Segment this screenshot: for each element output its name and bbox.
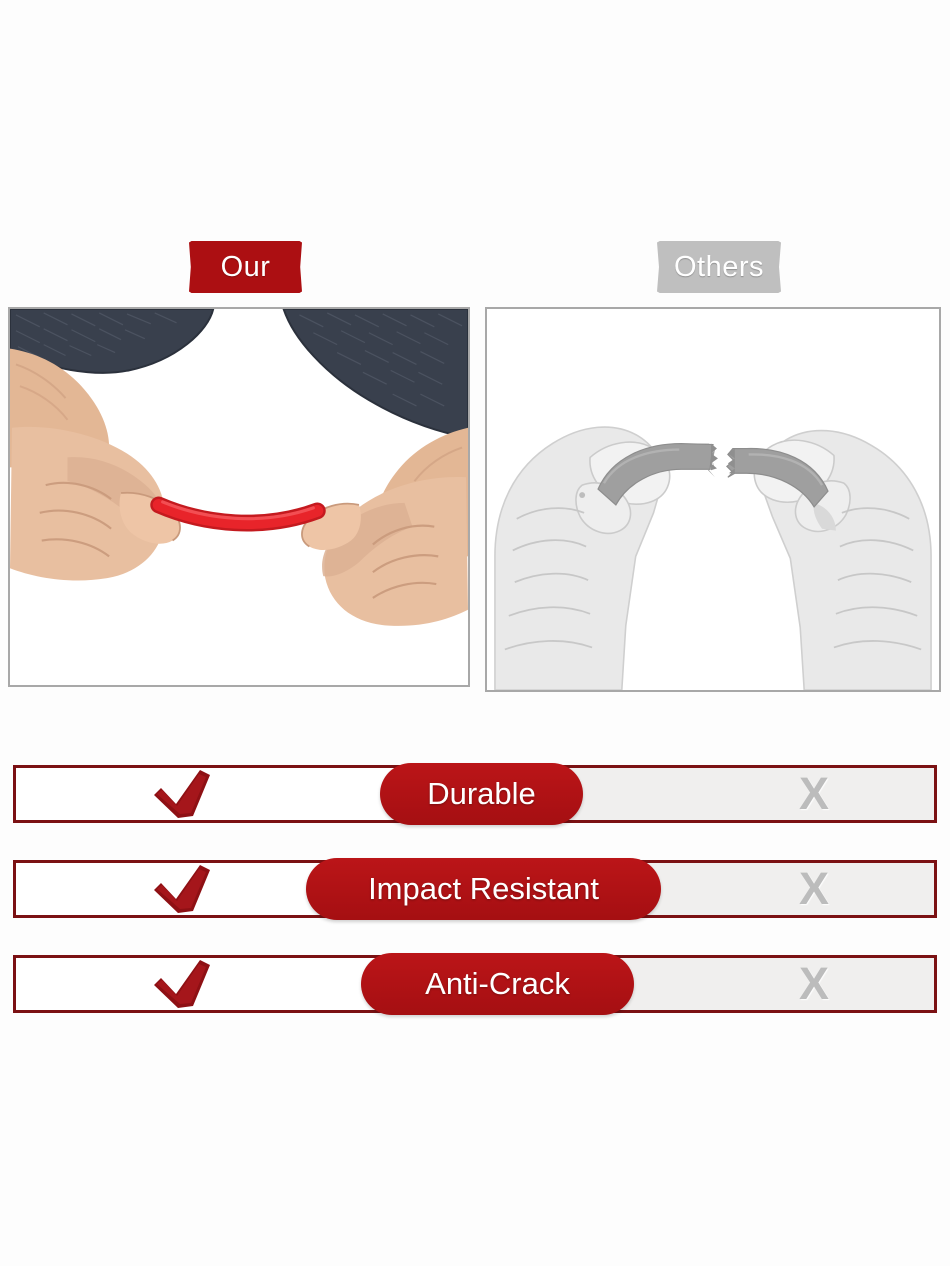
our-product-photo <box>8 307 470 687</box>
feature-label: Impact Resistant <box>368 871 599 907</box>
comparison-badges-row: Our Others <box>0 241 950 297</box>
feature-label: Durable <box>427 776 536 812</box>
comparison-row-impact-resistant: Impact Resistant X <box>13 860 937 918</box>
badge-others: Others <box>657 241 781 293</box>
badge-others-label: Others <box>674 251 764 284</box>
feature-pill-durable: Durable <box>380 763 583 825</box>
badge-our-label: Our <box>221 251 271 284</box>
feature-pill-anti-crack: Anti-Crack <box>361 953 634 1015</box>
others-product-illustration <box>487 309 939 690</box>
badge-our: Our <box>189 241 302 293</box>
our-product-illustration <box>10 309 468 685</box>
checkmark-icon <box>151 958 213 1010</box>
x-mark-icon: X <box>786 768 842 820</box>
comparison-row-durable: Durable X <box>13 765 937 823</box>
checkmark-icon <box>151 863 213 915</box>
others-product-photo <box>485 307 941 692</box>
checkmark-icon <box>151 768 213 820</box>
x-mark-icon: X <box>786 863 842 915</box>
x-mark-icon: X <box>786 958 842 1010</box>
feature-pill-impact-resistant: Impact Resistant <box>306 858 661 920</box>
feature-label: Anti-Crack <box>425 966 570 1002</box>
comparison-row-anti-crack: Anti-Crack X <box>13 955 937 1013</box>
